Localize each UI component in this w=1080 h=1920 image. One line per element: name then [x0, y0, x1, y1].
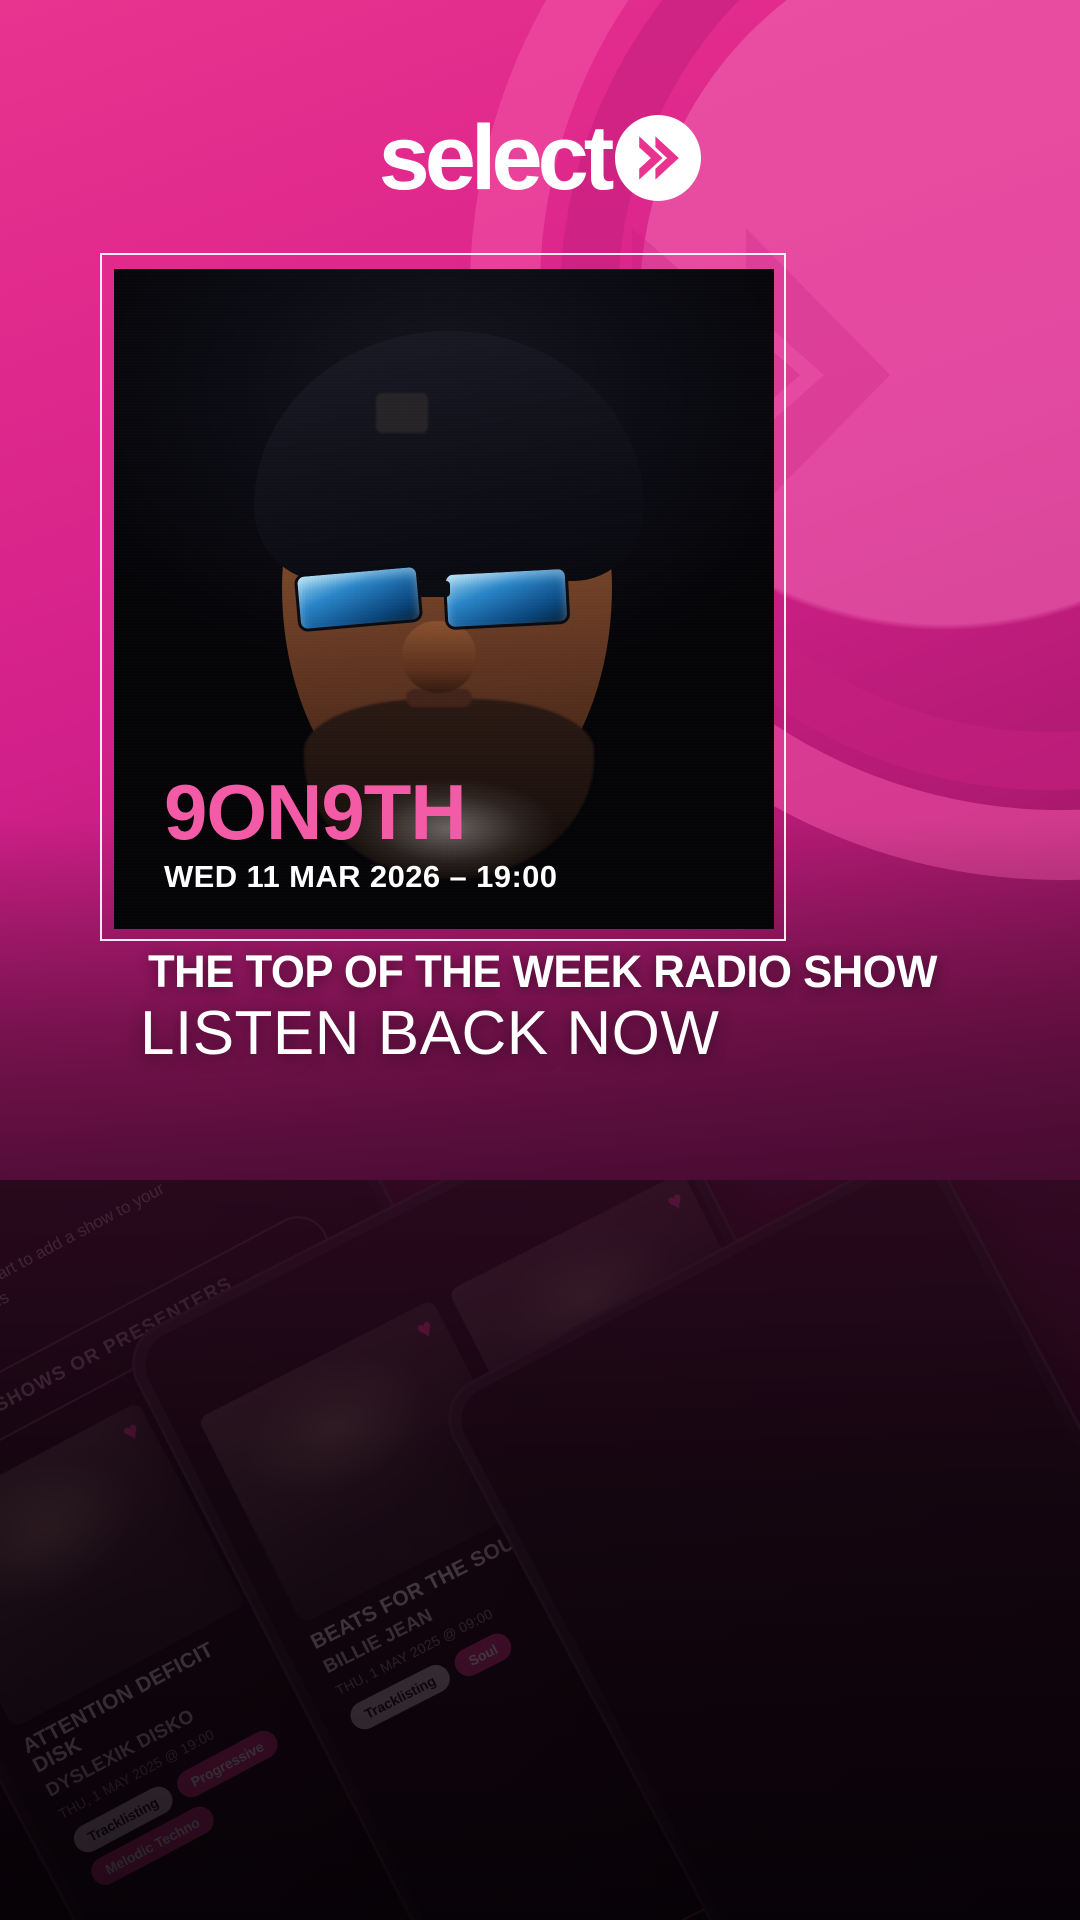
play-chevron-icon: [615, 115, 701, 201]
presenter-photo: 9ON9TH WED 11 MAR 2026 – 19:00: [114, 269, 774, 929]
brand-wordmark: select: [379, 117, 610, 200]
artwork-text-overlay: 9ON9TH WED 11 MAR 2026 – 19:00: [164, 777, 764, 895]
headline-primary: THE TOP OF THE WEEK RADIO SHOW: [148, 946, 1080, 998]
headline-secondary: LISTEN BACK NOW: [140, 998, 1080, 1069]
show-title: 9ON9TH: [164, 777, 764, 849]
phone-mockup-background: 21:21 select Click a heart to add a show…: [0, 1180, 1080, 1920]
brand-logo: select: [0, 112, 1080, 204]
show-datetime: WED 11 MAR 2026 – 19:00: [164, 859, 764, 895]
promo-canvas: 21:21 select Click a heart to add a show…: [0, 0, 1080, 1920]
artwork-frame: 9ON9TH WED 11 MAR 2026 – 19:00: [100, 253, 786, 941]
